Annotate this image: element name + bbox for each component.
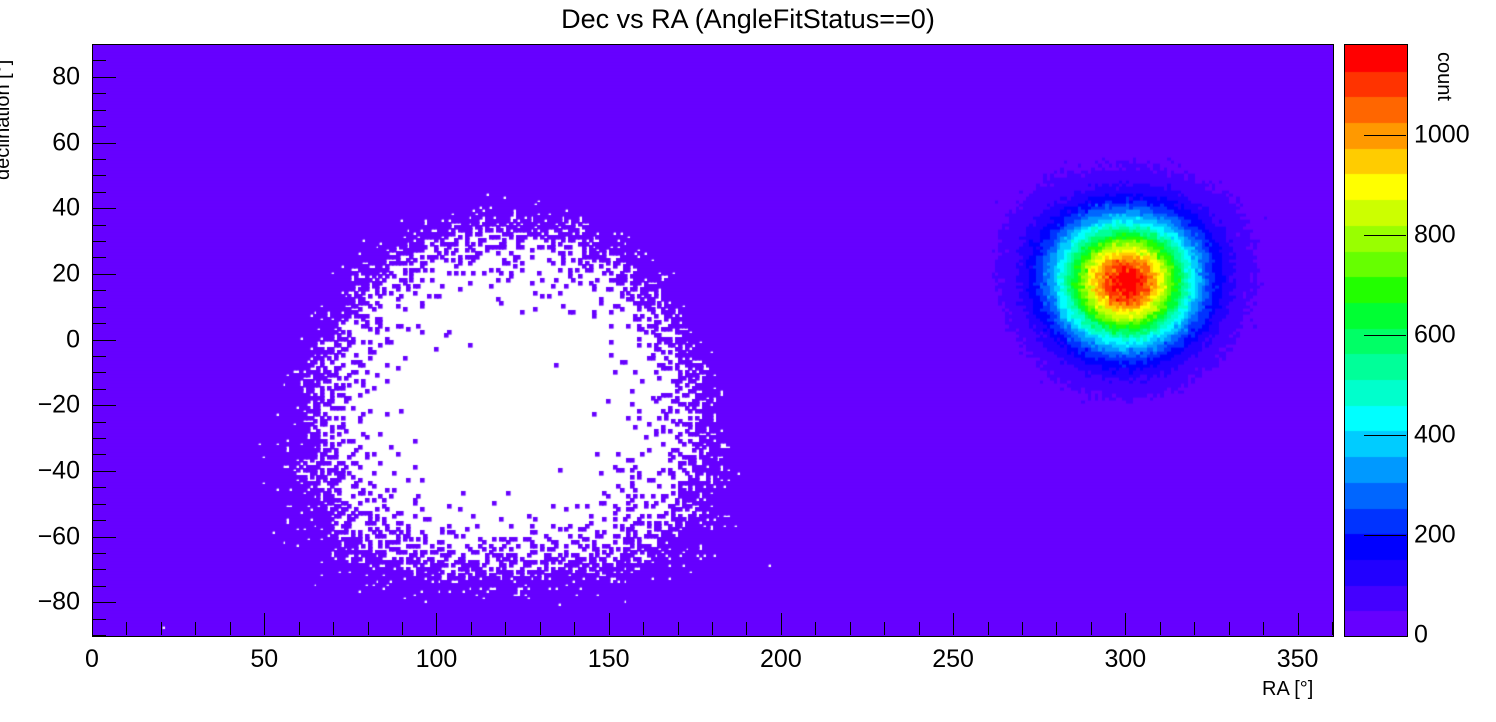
y-axis-minor-tick xyxy=(92,619,106,620)
color-scale-tick-label: 600 xyxy=(1414,321,1456,350)
y-axis-minor-tick xyxy=(92,257,106,258)
y-axis-major-tick xyxy=(92,340,116,341)
x-axis-minor-tick xyxy=(1056,622,1057,635)
x-axis-major-tick xyxy=(609,613,610,635)
y-axis-minor-tick xyxy=(92,635,106,636)
x-axis-minor-tick xyxy=(333,622,334,635)
y-axis-tick-label: −80 xyxy=(0,588,80,617)
x-axis-tick-label: 150 xyxy=(588,645,630,674)
y-axis-minor-tick xyxy=(92,126,106,127)
y-axis-minor-tick xyxy=(92,504,106,505)
y-axis-minor-tick xyxy=(92,372,106,373)
color-scale-gradient xyxy=(1345,45,1407,636)
color-scale-tick xyxy=(1364,535,1406,536)
page-title: Dec vs RA (AngleFitStatus==0) xyxy=(0,4,1496,35)
x-axis-minor-tick xyxy=(368,622,369,635)
y-axis-minor-tick xyxy=(92,389,106,390)
root-canvas: Dec vs RA (AngleFitStatus==0) −80−60−40−… xyxy=(0,0,1496,722)
x-axis-minor-tick xyxy=(299,622,300,635)
x-axis-minor-tick xyxy=(505,622,506,635)
y-axis-major-tick xyxy=(92,405,116,406)
x-axis-tick-label: 350 xyxy=(1277,645,1319,674)
x-axis-tick-label: 50 xyxy=(250,645,278,674)
y-axis-minor-tick xyxy=(92,110,106,111)
color-scale-tick-label: 800 xyxy=(1414,221,1456,250)
y-axis-major-tick xyxy=(92,274,116,275)
x-axis-minor-tick xyxy=(574,622,575,635)
y-axis-minor-tick xyxy=(92,454,106,455)
x-axis-minor-tick xyxy=(471,622,472,635)
x-axis-tick-label: 100 xyxy=(416,645,458,674)
y-axis-tick-label: 20 xyxy=(0,259,80,288)
y-axis-minor-tick xyxy=(92,175,106,176)
color-scale-tick-label: 0 xyxy=(1414,621,1428,650)
x-axis-minor-tick xyxy=(230,622,231,635)
x-axis-minor-tick xyxy=(1022,622,1023,635)
y-axis-major-tick xyxy=(92,602,116,603)
x-axis-minor-tick xyxy=(195,622,196,635)
x-axis-minor-tick xyxy=(988,622,989,635)
y-axis-minor-tick xyxy=(92,586,106,587)
y-axis-major-tick xyxy=(92,208,116,209)
x-axis-tick-label: 300 xyxy=(1104,645,1146,674)
y-axis-minor-tick xyxy=(92,44,106,45)
x-axis-minor-tick xyxy=(126,622,127,635)
color-scale-tick xyxy=(1364,435,1406,436)
x-axis-minor-tick xyxy=(643,622,644,635)
y-axis-major-tick xyxy=(92,471,116,472)
y-axis-title: declination [°] xyxy=(0,60,15,180)
y-axis-minor-tick xyxy=(92,356,106,357)
y-axis-tick-label: −40 xyxy=(0,456,80,485)
color-scale-tick-label: 1000 xyxy=(1414,121,1470,150)
x-axis-major-tick xyxy=(781,613,782,635)
x-axis-minor-tick xyxy=(1160,622,1161,635)
color-scale-tick xyxy=(1364,335,1406,336)
y-axis-minor-tick xyxy=(92,307,106,308)
x-axis-major-tick xyxy=(92,613,93,635)
x-axis-major-tick xyxy=(436,613,437,635)
color-scale-tick-label: 400 xyxy=(1414,421,1456,450)
color-scale-tick xyxy=(1364,135,1406,136)
y-axis-minor-tick xyxy=(92,569,106,570)
color-scale-bar[interactable] xyxy=(1344,44,1408,637)
y-axis-tick-label: 0 xyxy=(0,325,80,354)
y-axis-minor-tick xyxy=(92,553,106,554)
x-axis-minor-tick xyxy=(919,622,920,635)
y-axis-minor-tick xyxy=(92,225,106,226)
plot-frame[interactable] xyxy=(92,44,1334,637)
y-axis-minor-tick xyxy=(92,93,106,94)
color-scale-tick xyxy=(1364,235,1406,236)
x-axis-major-tick xyxy=(1298,613,1299,635)
x-axis-minor-tick xyxy=(1229,622,1230,635)
x-axis-minor-tick xyxy=(678,622,679,635)
y-axis-minor-tick xyxy=(92,290,106,291)
x-axis-tick-label: 200 xyxy=(760,645,802,674)
y-axis-minor-tick xyxy=(92,323,106,324)
y-axis-minor-tick xyxy=(92,192,106,193)
color-scale-title: count xyxy=(1432,52,1455,101)
x-axis-tick-label: 0 xyxy=(85,645,99,674)
x-axis-minor-tick xyxy=(850,622,851,635)
y-axis-minor-tick xyxy=(92,159,106,160)
x-axis-major-tick xyxy=(953,613,954,635)
x-axis-minor-tick xyxy=(1091,622,1092,635)
x-axis-minor-tick xyxy=(1194,622,1195,635)
y-axis-tick-label: −20 xyxy=(0,391,80,420)
y-axis-minor-tick xyxy=(92,60,106,61)
x-axis-minor-tick xyxy=(161,622,162,635)
y-axis-minor-tick xyxy=(92,241,106,242)
x-axis-minor-tick xyxy=(712,622,713,635)
x-axis-minor-tick xyxy=(746,622,747,635)
y-axis-minor-tick xyxy=(92,438,106,439)
x-axis-minor-tick xyxy=(540,622,541,635)
y-axis-minor-tick xyxy=(92,520,106,521)
heatmap-canvas[interactable] xyxy=(93,45,1333,636)
x-axis-minor-tick xyxy=(884,622,885,635)
x-axis-major-tick xyxy=(1125,613,1126,635)
y-axis-tick-label: 40 xyxy=(0,194,80,223)
x-axis-minor-tick xyxy=(815,622,816,635)
y-axis-minor-tick xyxy=(92,422,106,423)
y-axis-major-tick xyxy=(92,537,116,538)
x-axis-minor-tick xyxy=(1332,622,1333,635)
y-axis-major-tick xyxy=(92,77,116,78)
x-axis-minor-tick xyxy=(1263,622,1264,635)
x-axis-major-tick xyxy=(264,613,265,635)
y-axis-minor-tick xyxy=(92,487,106,488)
x-axis-minor-tick xyxy=(402,622,403,635)
x-axis-tick-label: 250 xyxy=(932,645,974,674)
color-scale-tick-label: 200 xyxy=(1414,521,1456,550)
x-axis-title: RA [°] xyxy=(1262,678,1313,701)
y-axis-major-tick xyxy=(92,143,116,144)
y-axis-tick-label: −60 xyxy=(0,522,80,551)
